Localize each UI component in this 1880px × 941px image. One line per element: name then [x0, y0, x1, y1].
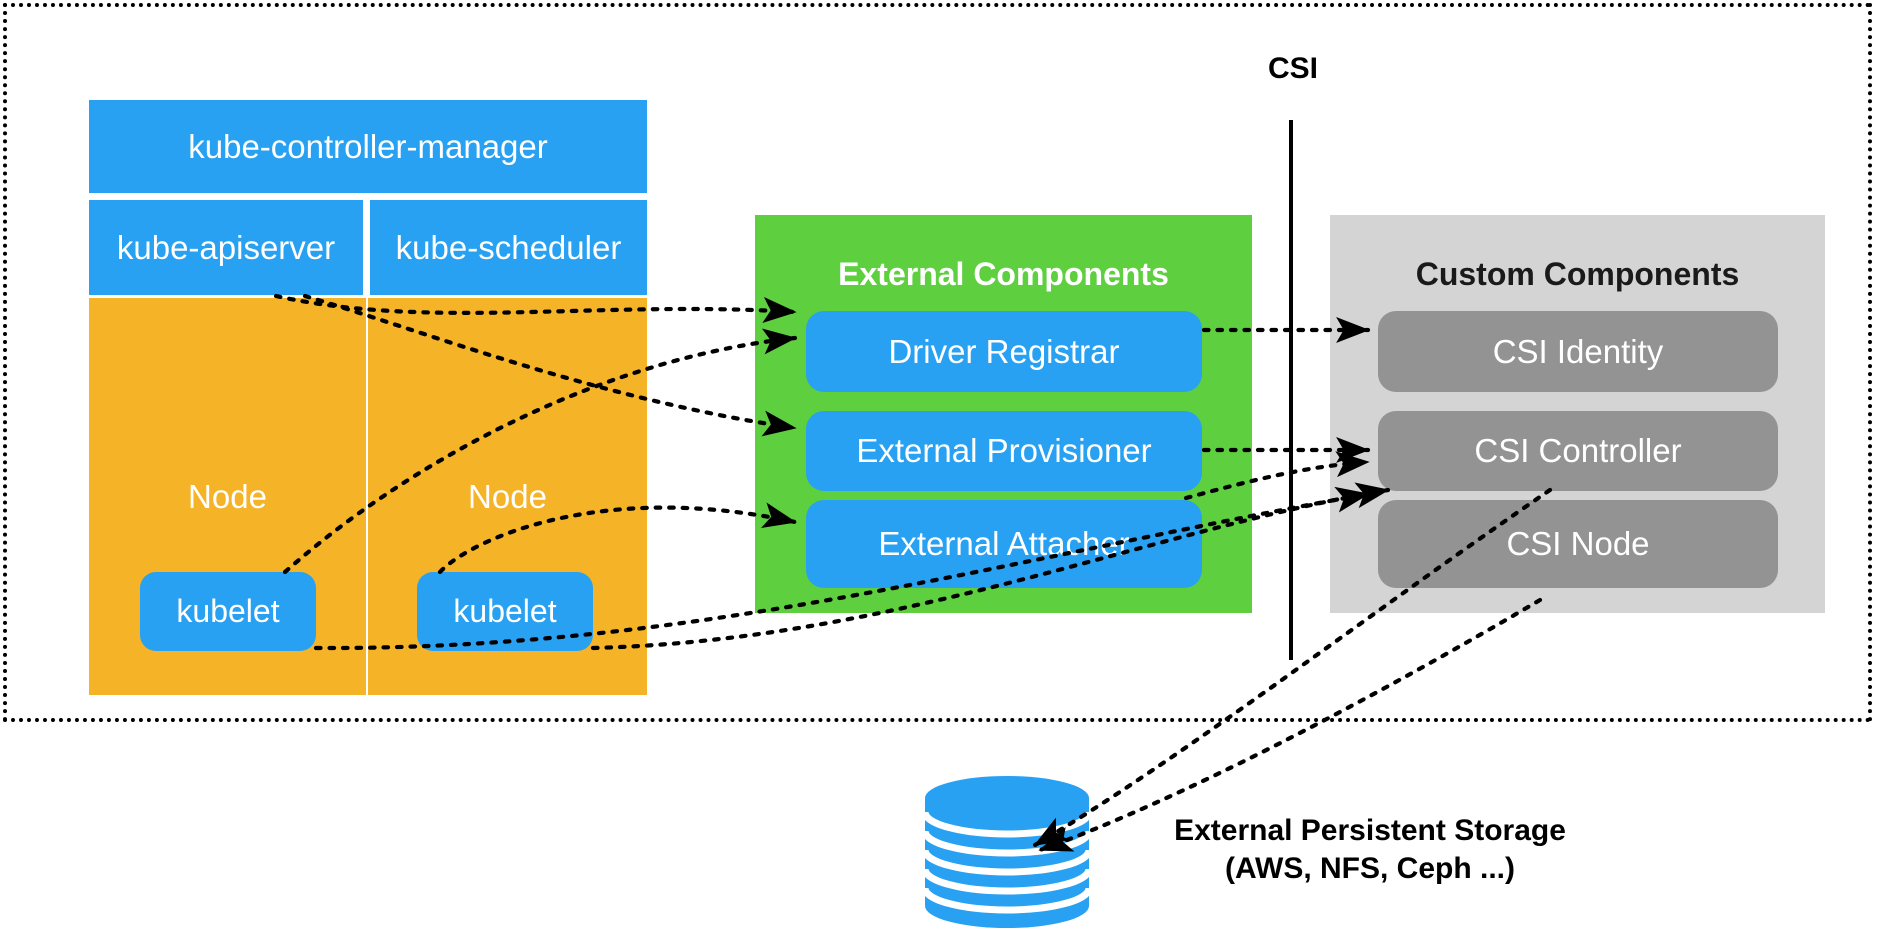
- csi-controller-box[interactable]: CSI Controller: [1378, 411, 1778, 491]
- external-components-title: External Components: [755, 256, 1252, 293]
- csi-controller-label: CSI Controller: [1474, 432, 1681, 470]
- node-label-2: Node: [368, 478, 647, 516]
- kube-scheduler-label: kube-scheduler: [396, 229, 622, 267]
- csi-divider-line: [1289, 120, 1293, 660]
- external-attacher-label: External Attacher: [878, 525, 1129, 563]
- external-storage-label: External Persistent Storage (AWS, NFS, C…: [1150, 812, 1590, 889]
- csi-node-box[interactable]: CSI Node: [1378, 500, 1778, 588]
- kube-controller-manager-label: kube-controller-manager: [188, 128, 548, 166]
- external-storage-cylinder-icon: [923, 776, 1091, 928]
- kube-controller-manager-box[interactable]: kube-controller-manager: [89, 100, 647, 193]
- custom-components-title: Custom Components: [1330, 256, 1825, 293]
- csi-divider-label: CSI: [1248, 52, 1338, 86]
- driver-registrar-label: Driver Registrar: [888, 333, 1119, 371]
- external-storage-line-1: External Persistent Storage: [1150, 812, 1590, 850]
- kube-apiserver-label: kube-apiserver: [117, 229, 335, 267]
- kube-scheduler-box[interactable]: kube-scheduler: [370, 200, 647, 295]
- diagram-canvas: kube-controller-manager kube-apiserver k…: [0, 0, 1880, 941]
- csi-node-label: CSI Node: [1506, 525, 1649, 563]
- kubelet-label-1: kubelet: [176, 593, 279, 630]
- kubelet-label-2: kubelet: [453, 593, 556, 630]
- node-label-1: Node: [89, 478, 366, 516]
- external-provisioner-label: External Provisioner: [856, 432, 1151, 470]
- csi-identity-box[interactable]: CSI Identity: [1378, 311, 1778, 392]
- external-attacher-box[interactable]: External Attacher: [806, 500, 1202, 588]
- csi-identity-label: CSI Identity: [1493, 333, 1664, 371]
- kubelet-box-2[interactable]: kubelet: [417, 572, 593, 651]
- kube-apiserver-box[interactable]: kube-apiserver: [89, 200, 363, 295]
- driver-registrar-box[interactable]: Driver Registrar: [806, 311, 1202, 392]
- external-storage-line-2: (AWS, NFS, Ceph ...): [1150, 850, 1590, 888]
- kubelet-box-1[interactable]: kubelet: [140, 572, 316, 651]
- external-provisioner-box[interactable]: External Provisioner: [806, 411, 1202, 491]
